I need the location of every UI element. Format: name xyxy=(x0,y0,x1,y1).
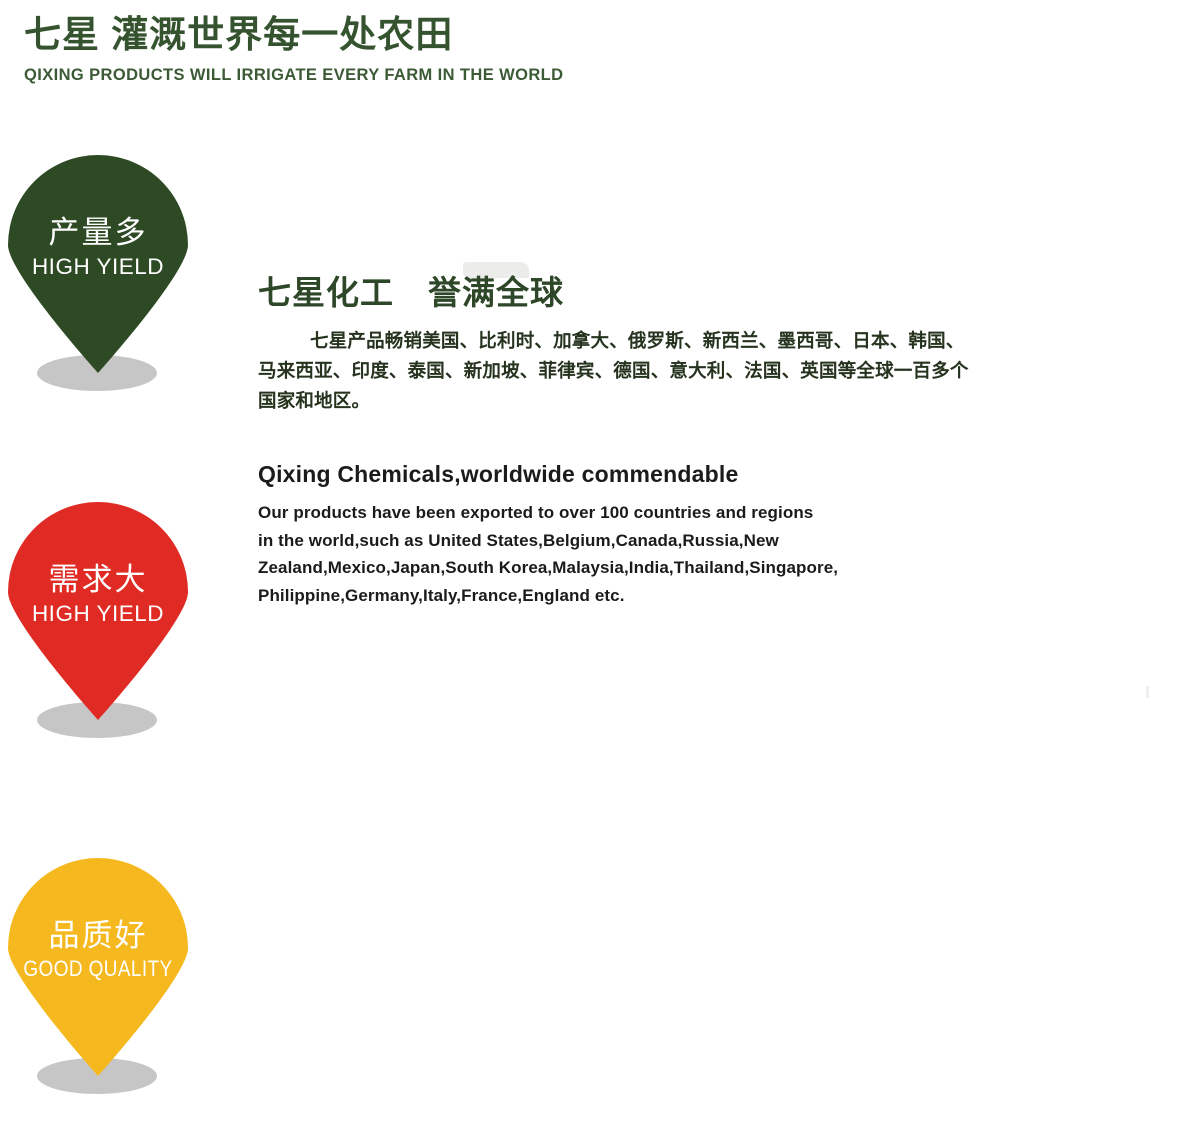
map-pin-icon xyxy=(8,858,188,1076)
chinese-paragraph: 七星产品畅销美国、比利时、加拿大、俄罗斯、新西兰、墨西哥、日本、韩国、马来西亚、… xyxy=(258,326,980,416)
chinese-paragraph-text: 七星产品畅销美国、比利时、加拿大、俄罗斯、新西兰、墨西哥、日本、韩国、马来西亚、… xyxy=(258,330,969,411)
map-pin-icon xyxy=(8,502,188,720)
feature-pin-high-demand[interactable]: 需求大 HIGH YIELD xyxy=(0,502,200,742)
main-content-block: 七星化工誉满全球 七星产品畅销美国、比利时、加拿大、俄罗斯、新西兰、墨西哥、日本… xyxy=(258,272,1038,609)
feature-pin-high-yield[interactable]: 产量多 HIGH YIELD xyxy=(0,155,200,395)
chinese-heading: 七星化工誉满全球 xyxy=(258,272,1038,313)
feature-pin-column: 产量多 HIGH YIELD 需求大 HIGH YIELD 品质好 GOOD Q… xyxy=(0,0,220,1123)
map-pin-icon xyxy=(8,155,188,373)
english-paragraph: Our products have been exported to over … xyxy=(258,499,1010,609)
chinese-heading-part-2: 誉满全球 xyxy=(428,274,564,311)
english-paragraph-line: Zealand,Mexico,Japan,South Korea,Malaysi… xyxy=(258,554,1010,582)
english-paragraph-line: Our products have been exported to over … xyxy=(258,499,1010,527)
english-paragraph-line: Philippine,Germany,Italy,France,England … xyxy=(258,582,1010,610)
chinese-heading-part-1: 七星化工 xyxy=(258,274,394,311)
english-paragraph-line: in the world,such as United States,Belgi… xyxy=(258,527,1010,555)
english-heading: Qixing Chemicals,worldwide commendable xyxy=(258,460,1038,490)
scan-artifact-speck xyxy=(1146,686,1149,698)
feature-pin-good-quality[interactable]: 品质好 GOOD QUALITY xyxy=(0,858,200,1098)
